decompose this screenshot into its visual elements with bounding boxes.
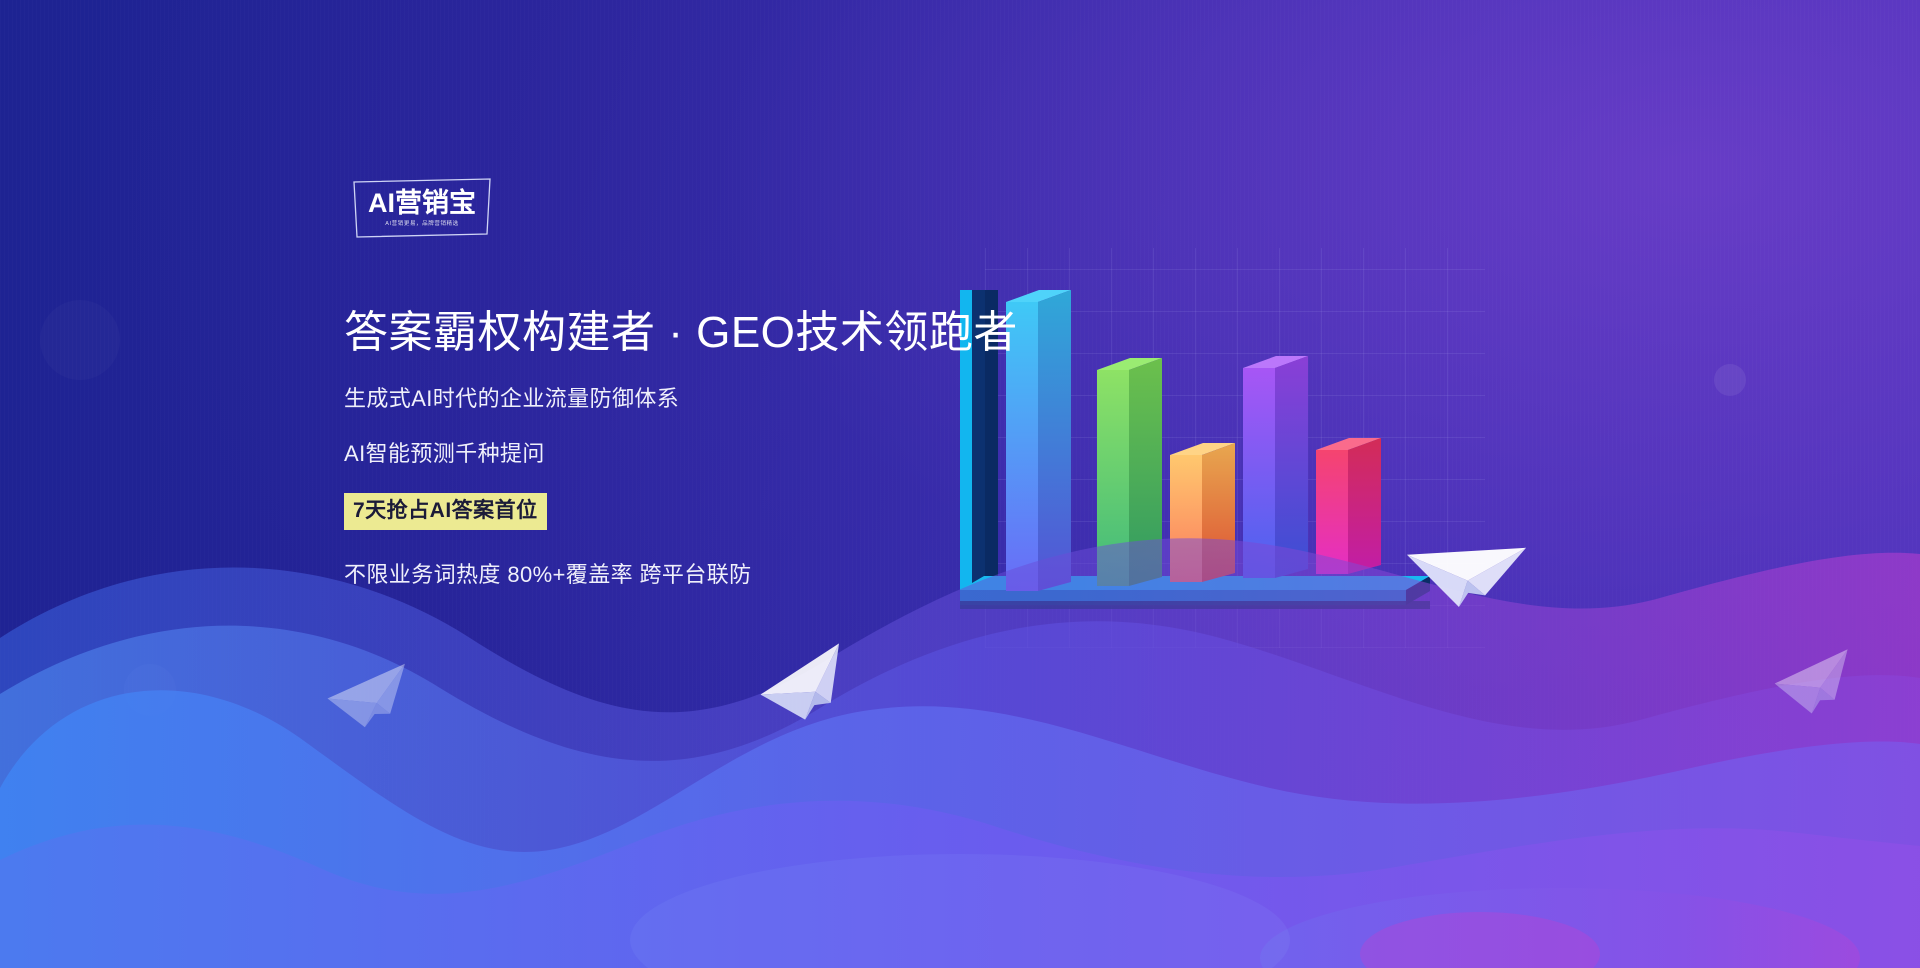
paper-plane-center-icon — [756, 638, 860, 730]
paper-plane-left-icon — [324, 652, 420, 736]
wave-decoration — [0, 488, 1920, 968]
logo-tagline: AI营销更易，品牌营销精选 — [352, 219, 492, 227]
paper-plane-right-large-icon — [1404, 508, 1534, 618]
glow-dot — [40, 300, 120, 380]
page-title: 答案霸权构建者 · GEO技术领跑者 — [344, 305, 1004, 361]
logo[interactable]: AI营销宝 AI营销更易，品牌营销精选 — [352, 178, 492, 238]
paper-plane-far-right-icon — [1772, 640, 1864, 722]
glow-dot — [1714, 364, 1746, 396]
subtitle-line-2: AI智能预测千种提问 — [344, 439, 1004, 469]
subtitle-line-1: 生成式AI时代的企业流量防御体系 — [344, 384, 1004, 414]
logo-wordmark: AI营销宝 — [366, 188, 478, 218]
hero-banner: AI营销宝 AI营销更易，品牌营销精选 答案霸权构建者 · GEO技术领跑者 生… — [0, 0, 1920, 968]
